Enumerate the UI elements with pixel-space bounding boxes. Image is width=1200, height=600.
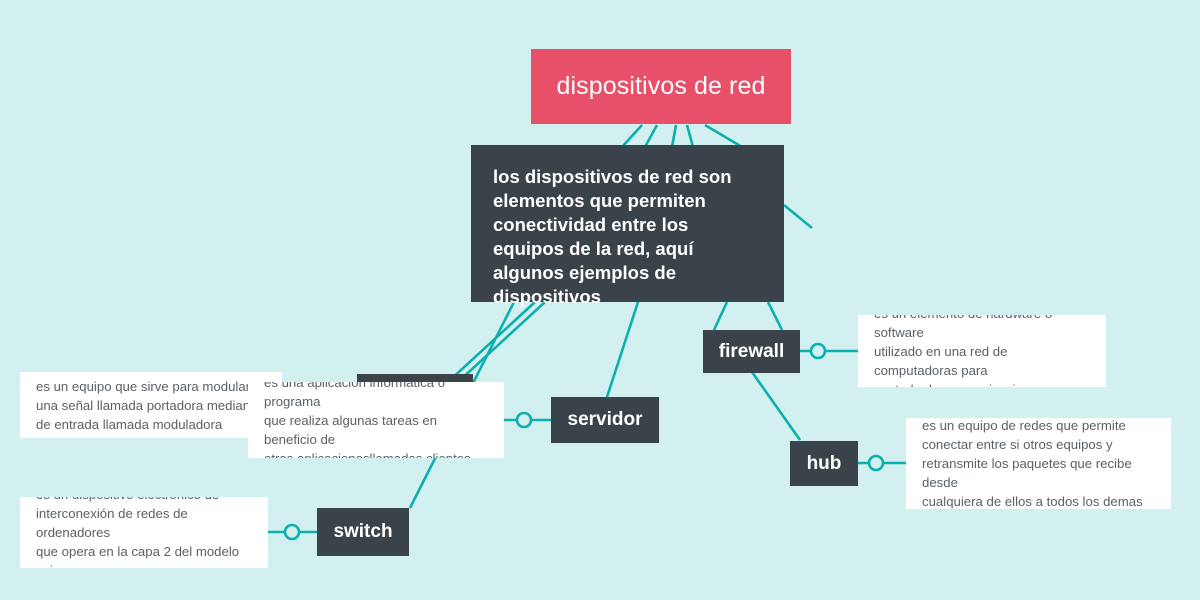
note-modem-text: es un equipo que sirve para modular y un… bbox=[36, 377, 261, 434]
note-servidor-line-2: que realiza algunas tareas en beneficio … bbox=[264, 411, 488, 449]
root-node[interactable]: dispositivos de red bbox=[531, 49, 791, 124]
connector-dot-firewall bbox=[811, 344, 825, 358]
edge-main-firewall2 bbox=[768, 302, 782, 330]
root-node-label: dispositivos de red bbox=[557, 72, 766, 101]
topic-label-servidor: servidor bbox=[568, 409, 643, 431]
topic-label-switch: switch bbox=[333, 521, 392, 543]
topic-node-hub[interactable]: hub bbox=[790, 441, 858, 486]
mindmap-canvas: dispositivos de red los dispositivos de … bbox=[0, 0, 1200, 600]
edge-root-a bbox=[622, 125, 642, 147]
note-firewall[interactable]: es un elemento de hardware o software ut… bbox=[858, 315, 1106, 387]
connector-dot-hub bbox=[869, 456, 883, 470]
edge-right-stub bbox=[784, 205, 812, 228]
central-note-text: los dispositivos de red son elementos qu… bbox=[493, 165, 762, 309]
topic-label-firewall: firewall bbox=[719, 341, 784, 363]
note-hub[interactable]: es un equipo de redes que permite conect… bbox=[906, 418, 1171, 509]
connector-dot-switch bbox=[285, 525, 299, 539]
note-firewall-line-3: controlar las comunicaciones bbox=[874, 380, 1090, 388]
note-switch[interactable]: es un dispositivo electrónico de interco… bbox=[20, 497, 268, 568]
note-hub-line-3: retransmite los paquetes que recibe desd… bbox=[922, 454, 1155, 492]
note-modem[interactable]: es un equipo que sirve para modular y un… bbox=[20, 372, 282, 438]
note-modem-line-2: una señal llamada portadora mediante bbox=[36, 396, 261, 415]
topic-node-firewall[interactable]: firewall bbox=[703, 330, 800, 373]
topic-label-hub: hub bbox=[807, 453, 842, 475]
connector-dot-servidor bbox=[517, 413, 531, 427]
edge-main-servidor bbox=[607, 302, 638, 397]
edge-root-b bbox=[645, 125, 657, 147]
central-note-line-1: los dispositivos de red son bbox=[493, 166, 732, 187]
edge-firewall-hub bbox=[752, 372, 800, 440]
note-firewall-line-2: utilizado en una red de computadoras par… bbox=[874, 342, 1090, 380]
note-hub-text: es un equipo de redes que permite conect… bbox=[922, 418, 1155, 509]
note-servidor[interactable]: es una aplicación informática o programa… bbox=[248, 382, 504, 458]
note-hub-line-1: es un equipo de redes que permite bbox=[922, 418, 1155, 435]
edge-root-c bbox=[672, 125, 676, 147]
note-servidor-line-3: otras aplicacionesllamadas clientes bbox=[264, 449, 488, 459]
note-servidor-text: es una aplicación informática o programa… bbox=[264, 382, 488, 458]
note-modem-line-1: es un equipo que sirve para modular y bbox=[36, 377, 261, 396]
note-switch-line-1: es un dispositivo electrónico de bbox=[36, 497, 252, 504]
note-firewall-text: es un elemento de hardware o software ut… bbox=[874, 315, 1090, 387]
note-modem-line-3: de entrada llamada moduladora bbox=[36, 415, 261, 434]
note-firewall-line-1: es un elemento de hardware o software bbox=[874, 315, 1090, 342]
note-switch-line-2: interconexión de redes de ordenadores bbox=[36, 504, 252, 542]
note-switch-line-3: que opera en la capa 2 del modelo osi bbox=[36, 542, 252, 568]
edge-root-e bbox=[705, 125, 742, 147]
edge-root-d bbox=[687, 125, 693, 147]
topic-node-switch[interactable]: switch bbox=[317, 508, 409, 556]
note-hub-line-2: conectar entre si otros equipos y bbox=[922, 435, 1155, 454]
central-note-node[interactable]: los dispositivos de red son elementos qu… bbox=[471, 145, 784, 302]
note-switch-text: es un dispositivo electrónico de interco… bbox=[36, 497, 252, 568]
central-note-line-2: elementos que permiten bbox=[493, 190, 706, 211]
note-servidor-line-1: es una aplicación informática o programa bbox=[264, 382, 488, 411]
note-hub-line-4: cualquiera de ellos a todos los demas bbox=[922, 492, 1155, 509]
topic-node-servidor[interactable]: servidor bbox=[551, 397, 659, 443]
